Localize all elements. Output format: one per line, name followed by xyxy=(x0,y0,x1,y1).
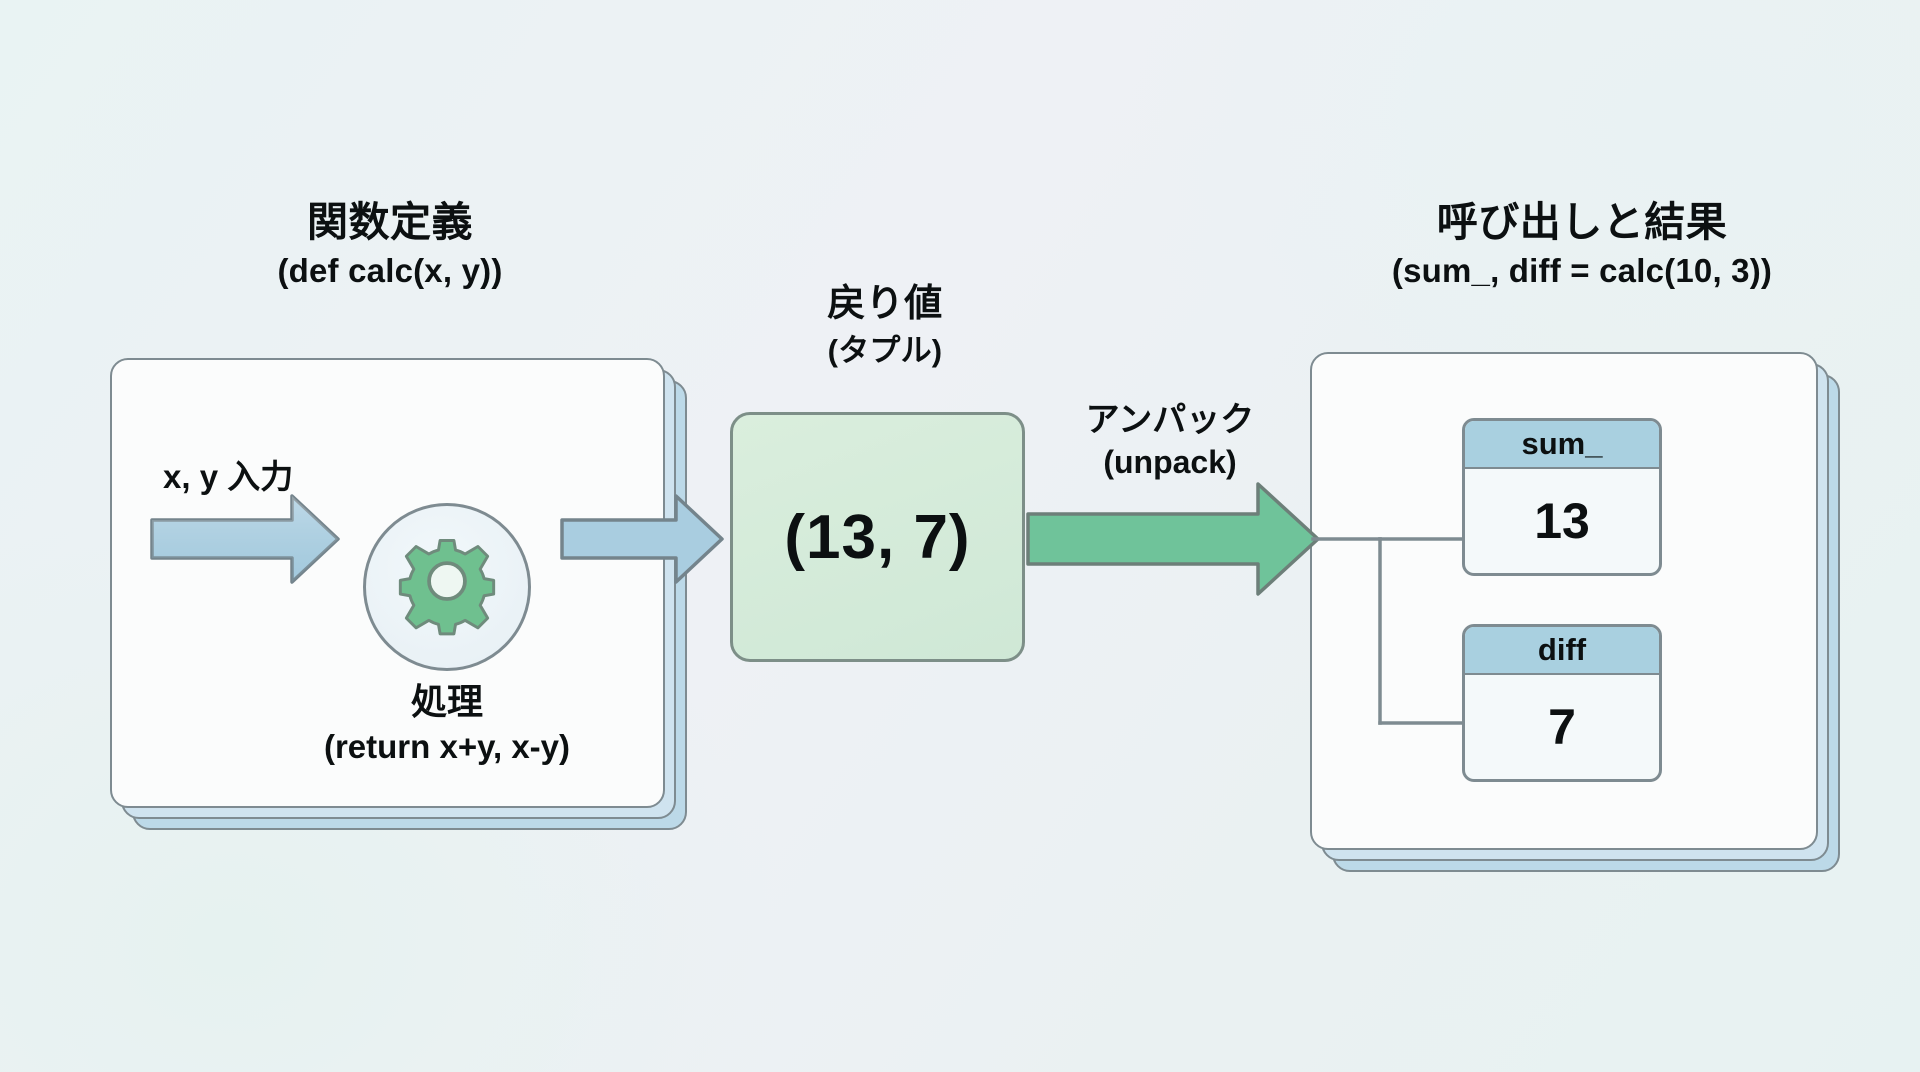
middle-subtitle: (タプル) xyxy=(725,333,1045,370)
variable-box-sum: sum_ 13 xyxy=(1462,418,1662,576)
unpack-subtitle: (unpack) xyxy=(1020,443,1320,481)
call-and-result-card: sum_ 13 diff 7 xyxy=(1310,352,1818,850)
process-caption: 処理 (return x+y, x-y) xyxy=(247,680,647,767)
variable-name-diff: diff xyxy=(1465,627,1659,675)
variable-value-diff: 7 xyxy=(1465,675,1659,779)
middle-section-heading: 戻り値 (タプル) xyxy=(725,282,1045,369)
process-label: 処理 xyxy=(247,680,647,723)
gear-icon xyxy=(388,528,506,646)
variable-value-sum: 13 xyxy=(1465,469,1659,573)
left-title: 関数定義 xyxy=(110,198,670,246)
variable-name-sum: sum_ xyxy=(1465,421,1659,469)
right-section-heading: 呼び出しと結果 (sum_, diff = calc(10, 3)) xyxy=(1282,198,1882,291)
unpack-title: アンパック xyxy=(1020,400,1320,441)
middle-title: 戻り値 xyxy=(725,282,1045,327)
right-subtitle: (sum_, diff = calc(10, 3)) xyxy=(1282,252,1882,291)
variable-box-diff: diff 7 xyxy=(1462,624,1662,782)
left-section-heading: 関数定義 (def calc(x, y)) xyxy=(110,198,670,291)
unpack-arrow-icon xyxy=(1028,484,1318,594)
process-code: (return x+y, x-y) xyxy=(247,727,647,767)
function-definition-card: x, y 入力 処理 (return x+y, x-y) xyxy=(110,358,665,808)
left-subtitle: (def calc(x, y)) xyxy=(110,252,670,291)
return-value-box: (13, 7) xyxy=(730,412,1025,662)
unpack-arrow-label: アンパック (unpack) xyxy=(1020,400,1320,481)
gear-circle xyxy=(363,503,531,671)
return-value-text: (13, 7) xyxy=(784,502,970,573)
diagram-canvas: 関数定義 (def calc(x, y)) 戻り値 (タプル) 呼び出しと結果 … xyxy=(0,0,1920,1072)
right-title: 呼び出しと結果 xyxy=(1282,198,1882,246)
input-label: x, y 入力 xyxy=(163,450,293,498)
